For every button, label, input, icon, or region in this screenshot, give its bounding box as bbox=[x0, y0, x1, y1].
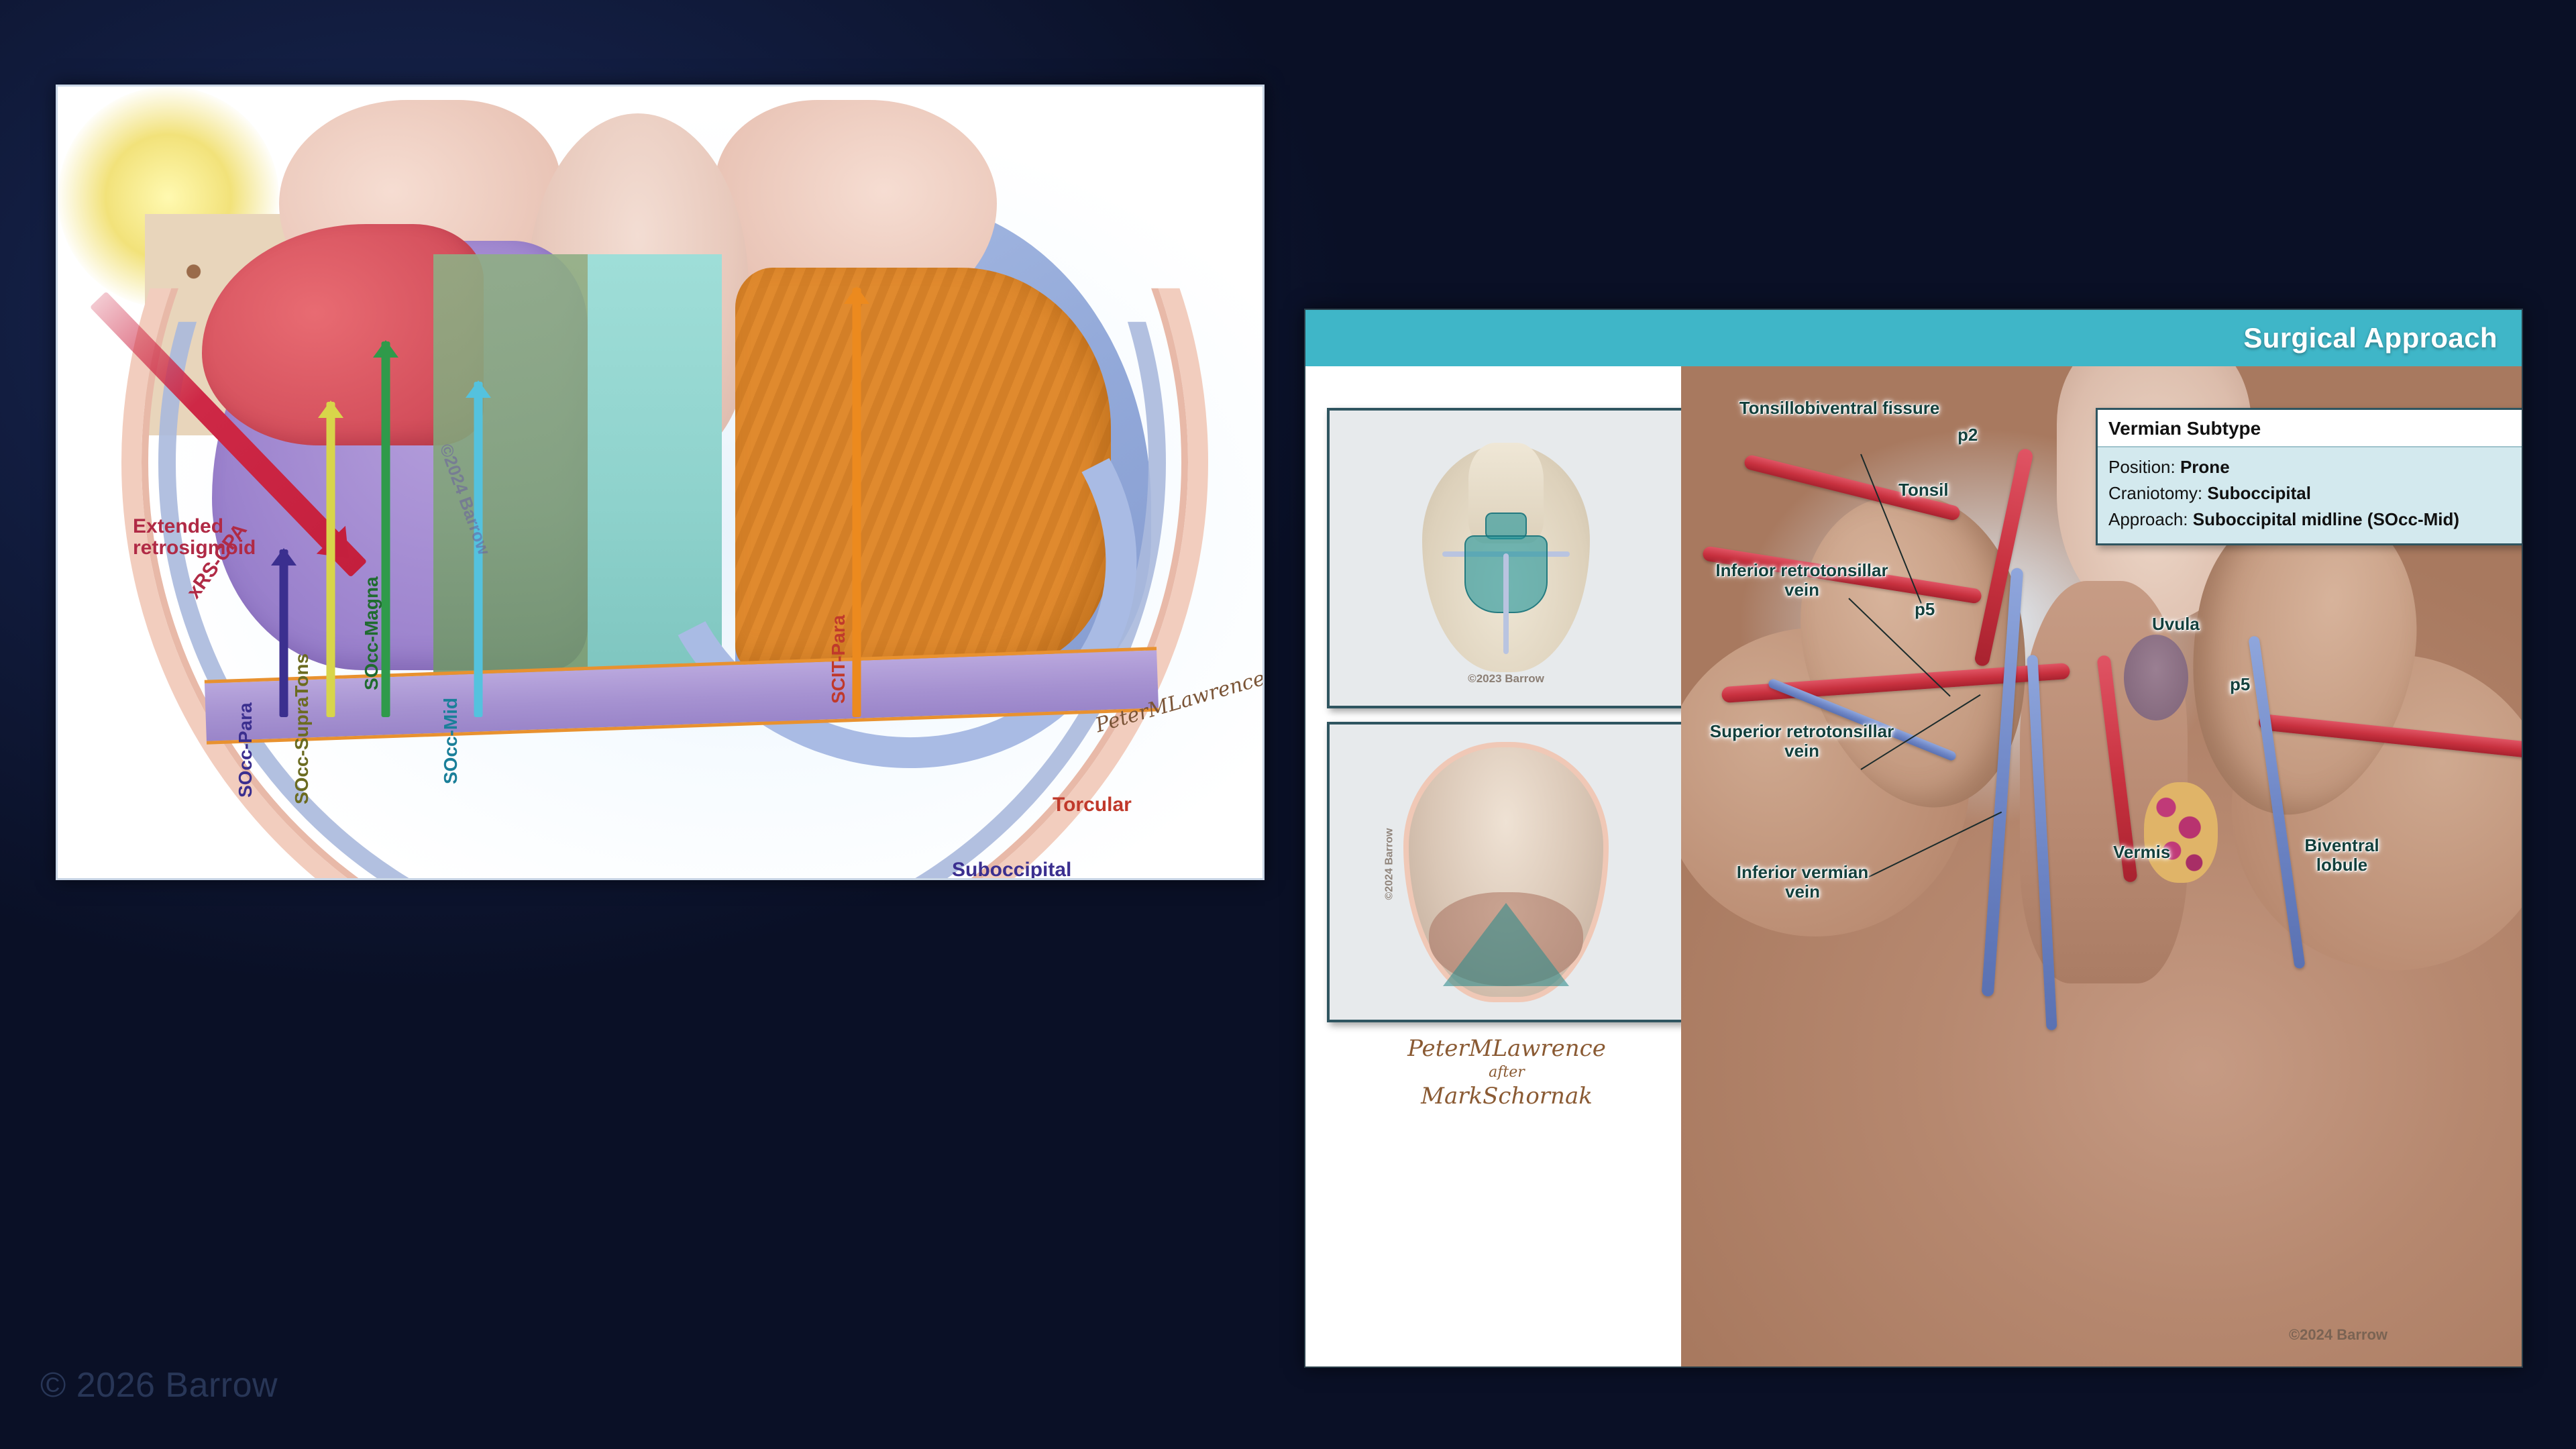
label-superior-retrotonsillar-vein: Superior retrotonsillar vein bbox=[1708, 722, 1896, 761]
right-panel-body: ©2023 Barrow ©2024 Barrow PeterMLawrence… bbox=[1305, 366, 2522, 1366]
info-value-craniotomy: Suboccipital bbox=[2207, 483, 2311, 503]
inset-posterior-skull[interactable]: ©2023 Barrow bbox=[1327, 408, 1685, 708]
label-scit-para: SCIT-Para bbox=[828, 615, 849, 704]
label-vermis: Vermis bbox=[2113, 843, 2170, 862]
left-illustration-panel: PeterMLawrence Extended retrosigmoid xRS… bbox=[56, 85, 1265, 880]
craniotomy-highlight-lower bbox=[1464, 535, 1548, 613]
signature-block: PeterMLawrence after MarkSchornak bbox=[1406, 1037, 1607, 1108]
label-pica-p2-upper-left: p2 bbox=[1957, 425, 1978, 445]
label-tonsil-left: Tonsil bbox=[1898, 480, 1949, 500]
label-pica-p5-right: p5 bbox=[2230, 675, 2250, 694]
label-biventral-lobule: Biventral lobule bbox=[2278, 836, 2406, 875]
inset-1-inline-copyright: ©2023 Barrow bbox=[1468, 672, 1544, 686]
label-suboccipital: Suboccipital bbox=[952, 859, 1071, 878]
info-value-position: Prone bbox=[2180, 457, 2230, 477]
field-inline-copyright: ©2024 Barrow bbox=[2289, 1326, 2387, 1344]
info-box-rows: Position: Prone Craniotomy: Suboccipital… bbox=[2098, 447, 2522, 543]
vermian-subtype-info-box: Vermian Subtype Position: Prone Cranioto… bbox=[2096, 408, 2522, 545]
choroid-plexus-shape bbox=[2144, 782, 2218, 883]
socc-supratons-arrow bbox=[318, 402, 343, 717]
label-inferior-vermian-vein: Inferior vermian vein bbox=[1719, 863, 1886, 902]
header-title: Surgical Approach bbox=[2243, 322, 2522, 354]
surgical-approach-header: Surgical Approach bbox=[1305, 310, 2522, 366]
info-key-craniotomy: Craniotomy: bbox=[2108, 483, 2202, 503]
label-tonsillobiventral-fissure: Tonsillobiventral fissure bbox=[1739, 398, 1940, 418]
info-row-craniotomy: Craniotomy: Suboccipital bbox=[2108, 480, 2522, 506]
info-row-position: Position: Prone bbox=[2108, 454, 2522, 480]
uvula-shape bbox=[2124, 635, 2188, 720]
info-box-title: Vermian Subtype bbox=[2098, 410, 2522, 447]
info-key-approach: Approach: bbox=[2108, 509, 2188, 529]
label-socc-supratons: SOcc-SupraTons bbox=[291, 653, 313, 804]
signature-source: MarkSchornak bbox=[1406, 1085, 1607, 1108]
signature-connector: after bbox=[1406, 1060, 1607, 1085]
posterior-skull-shape bbox=[1422, 444, 1590, 672]
inset-2-inline-copyright: ©2024 Barrow bbox=[1383, 828, 1395, 900]
label-socc-para: SOcc-Para bbox=[235, 702, 256, 798]
right-illustration-panel: Surgical Approach ©2023 Barrow ©2024 B bbox=[1304, 309, 2523, 1368]
label-torcular: Torcular bbox=[1053, 794, 1132, 816]
label-socc-mid: SOcc-Mid bbox=[440, 698, 462, 784]
info-row-approach: Approach: Suboccipital midline (SOcc-Mid… bbox=[2108, 506, 2522, 533]
approach-corridor-wedge bbox=[1443, 903, 1569, 986]
left-panel-artwork: PeterMLawrence Extended retrosigmoid xRS… bbox=[58, 87, 1263, 878]
label-uvula: Uvula bbox=[2152, 614, 2200, 634]
slide-copyright: © 2026 Barrow bbox=[40, 1365, 278, 1405]
label-socc-magna: SOcc-Magna bbox=[361, 576, 382, 690]
axial-skull-base-shape bbox=[1403, 742, 1609, 1002]
info-value-approach: Suboccipital midline (SOcc-Mid) bbox=[2193, 509, 2459, 529]
info-key-position: Position: bbox=[2108, 457, 2176, 477]
signature-artist: PeterMLawrence bbox=[1406, 1037, 1607, 1060]
inset-posterior-skull-art: ©2023 Barrow bbox=[1336, 417, 1676, 699]
inset-axial-skull-base[interactable]: ©2024 Barrow bbox=[1327, 722, 1685, 1022]
label-pica-p5-left: p5 bbox=[1915, 600, 1935, 619]
inset-axial-skull-art: ©2024 Barrow bbox=[1336, 731, 1676, 1013]
label-inferior-retrotonsillar-vein: Inferior retrotonsillar vein bbox=[1708, 561, 1896, 600]
